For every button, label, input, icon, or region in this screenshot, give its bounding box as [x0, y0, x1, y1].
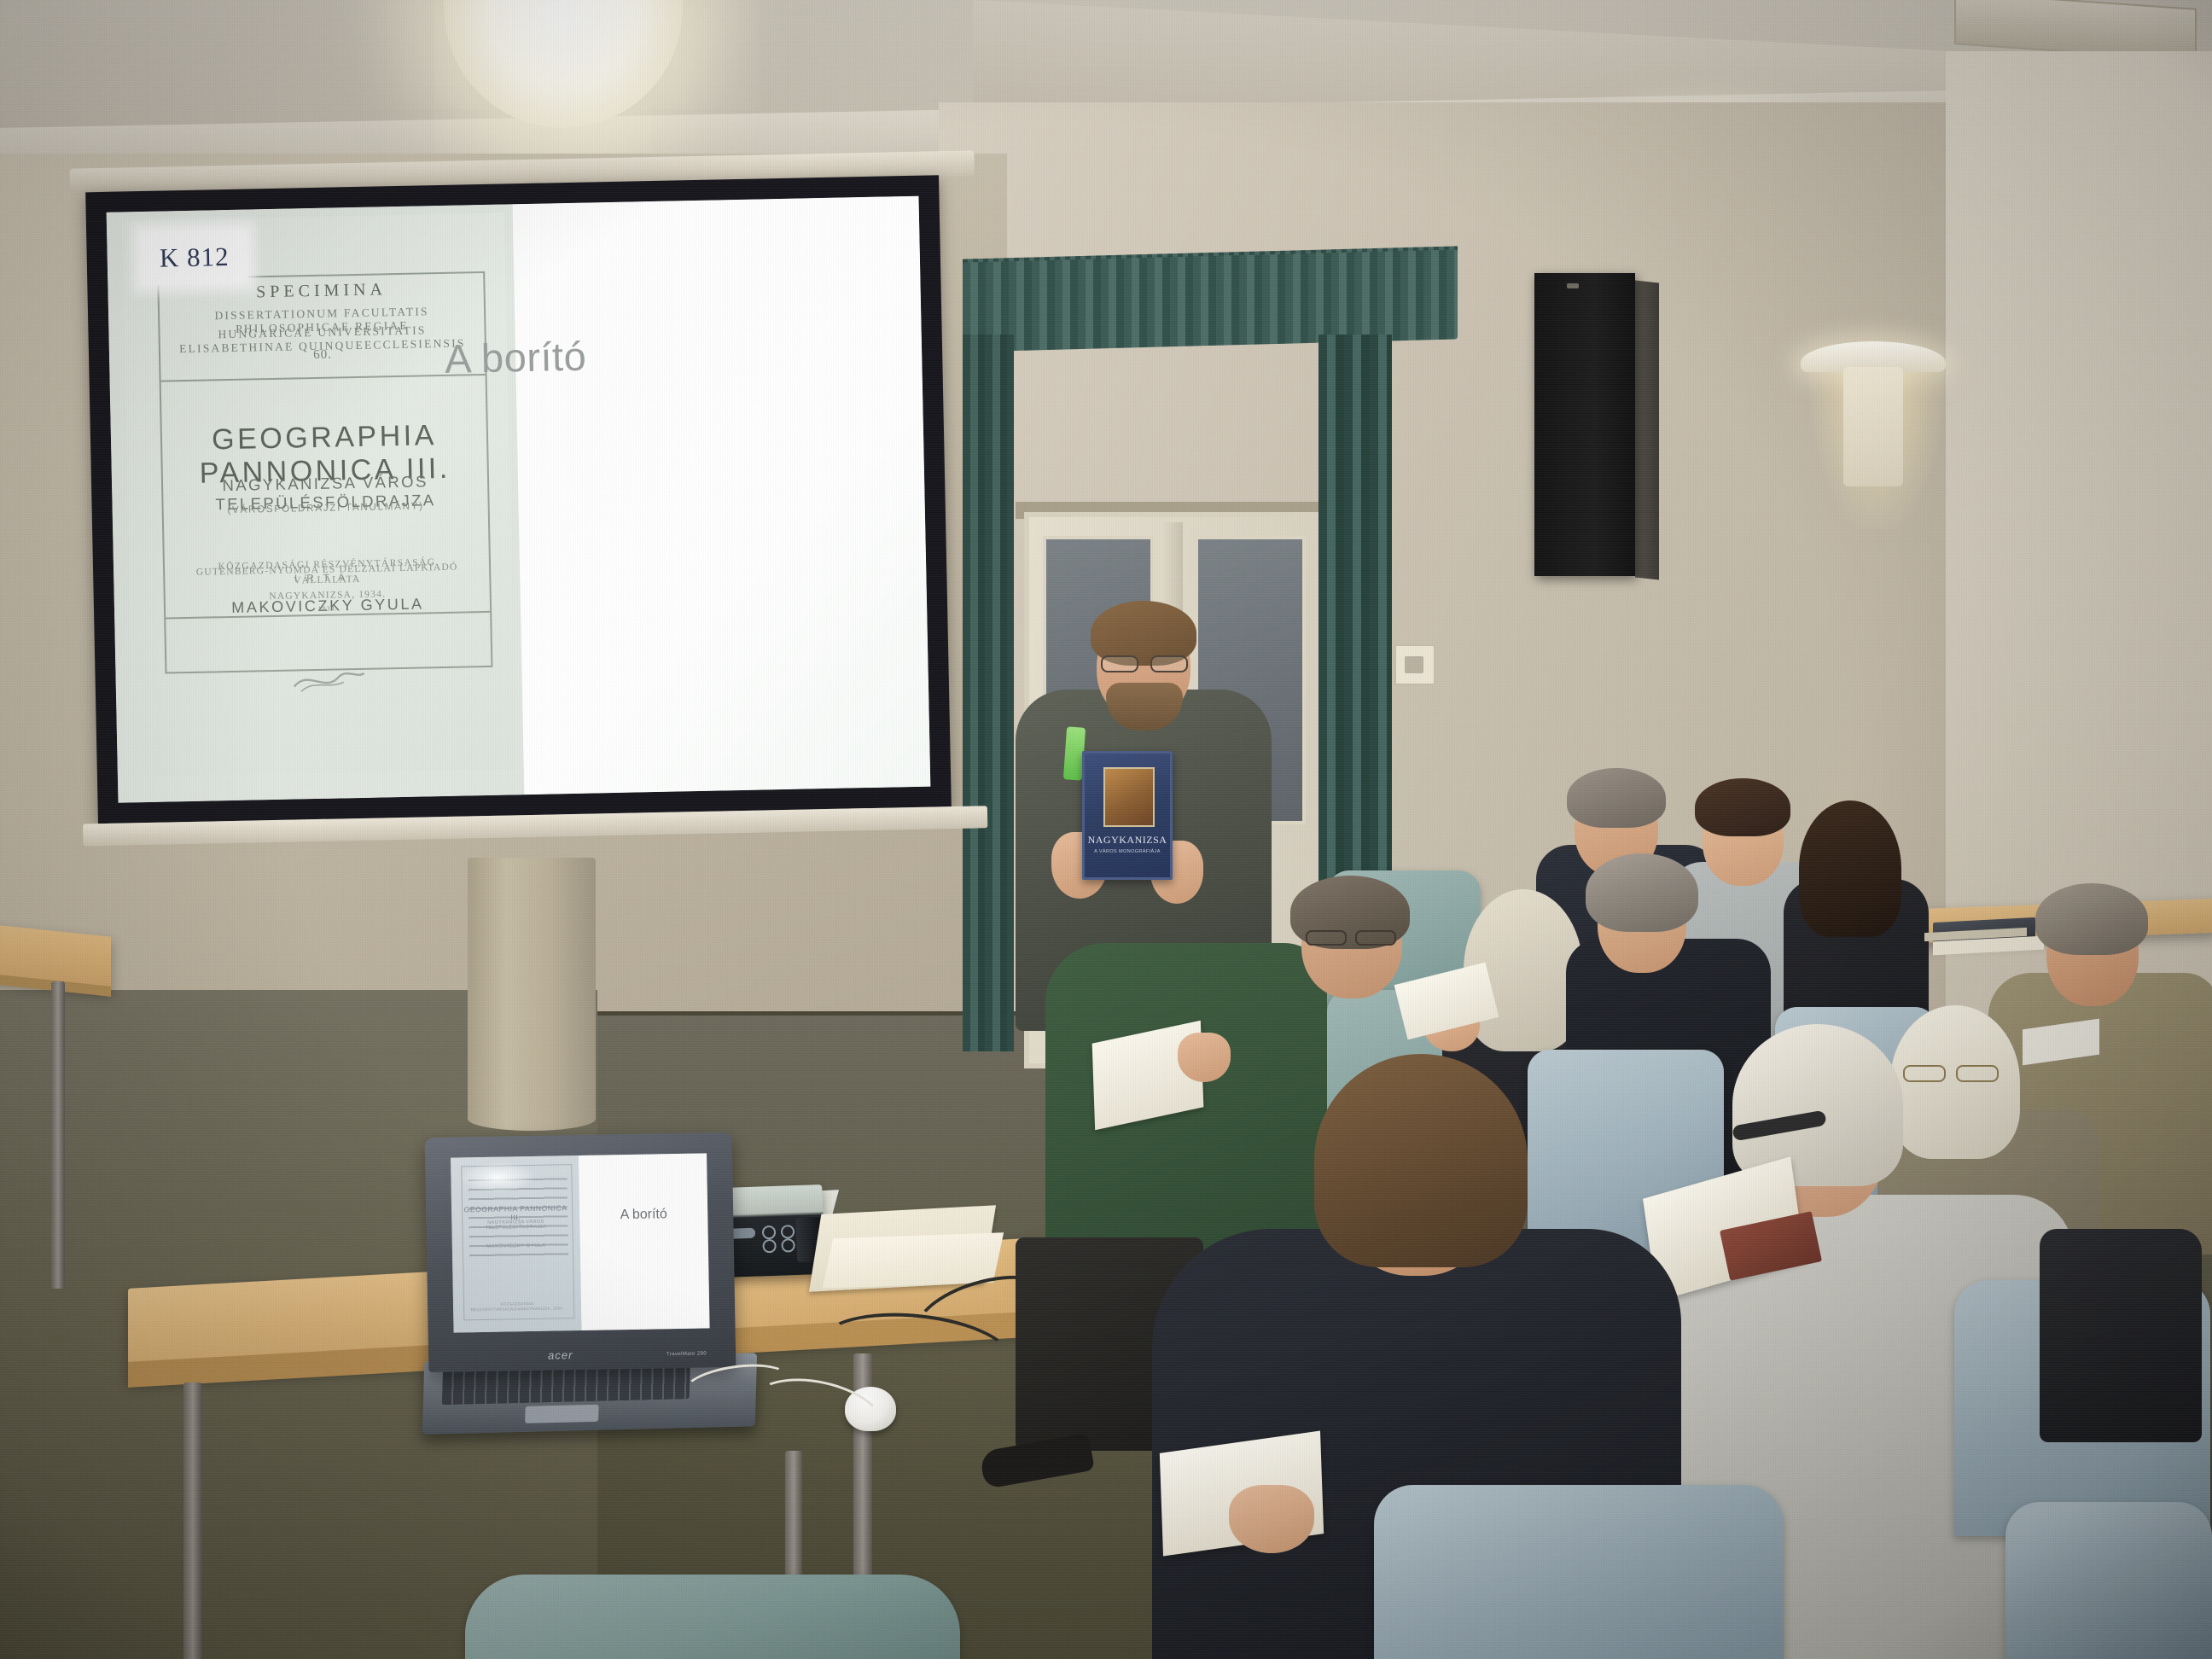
audience-hair [2035, 883, 2148, 955]
printer-ornament-icon [290, 667, 368, 697]
projection-screen: SPECIMINA DISSERTATIONUM FACULTATIS PHIL… [85, 175, 969, 866]
side-table-leg [51, 981, 65, 1289]
chair[interactable] [2005, 1502, 2212, 1659]
rca-port-1-icon [762, 1225, 777, 1240]
rca-port-3-icon [762, 1239, 777, 1254]
conference-room-photo: SPECIMINA DISSERTATIONUM FACULTATIS PHIL… [0, 0, 2212, 1659]
held-book-title: NAGYKANIZSA [1085, 834, 1170, 847]
audience-hand [1229, 1485, 1314, 1553]
laptop-slide-footer: KÖZGAZDASÁGI RÉSZVÉNYTÁRSASÁG\nNAGYKANIZ… [462, 1301, 573, 1314]
projector-ports [728, 1223, 797, 1251]
audience-glasses-icon [1903, 1065, 1999, 1079]
wall-outlet-icon[interactable] [1394, 644, 1435, 685]
chair[interactable] [465, 1575, 960, 1659]
audience-hair [1567, 768, 1666, 828]
slide-right-half [513, 196, 931, 795]
slide-left-half: SPECIMINA DISSERTATIONUM FACULTATIS PHIL… [107, 204, 525, 802]
laptop-brand-logo: acer [548, 1348, 573, 1362]
held-book-cover-image [1103, 767, 1155, 827]
audience-hair [1799, 800, 1901, 937]
coat-on-chair[interactable] [2040, 1229, 2202, 1442]
laptop-touchpad[interactable] [525, 1405, 599, 1423]
video-projector[interactable] [719, 1185, 825, 1278]
audience-hair [1695, 778, 1790, 836]
wall-far-right [1946, 51, 2212, 1024]
support-column [468, 858, 596, 1131]
speaker-led [1567, 283, 1579, 288]
presenter-table-leg-left [183, 1382, 202, 1659]
audience-hand [1178, 1033, 1231, 1082]
audience-hair [1586, 853, 1698, 932]
laptop-screen-glare [459, 1161, 537, 1194]
held-book-subtitle: A VÁROS MONOGRÁFIÁJA [1085, 849, 1170, 854]
audience-hair [1732, 1024, 1903, 1186]
chair[interactable] [1374, 1485, 1784, 1659]
laptop-slide-heading: A borító [579, 1206, 707, 1224]
held-book[interactable]: NAGYKANIZSA A VÁROS MONOGRÁFIÁJA [1082, 751, 1173, 880]
audience-hair [1890, 1005, 2020, 1159]
handout-papers-stack[interactable] [823, 1232, 1004, 1288]
laptop-screen: GEOGRAPHIA PANNONICA III. NAGYKANIZSA VÁ… [451, 1153, 710, 1332]
audience-hair [1314, 1054, 1528, 1267]
screen-frame: SPECIMINA DISSERTATIONUM FACULTATIS PHIL… [85, 175, 952, 824]
laptop-slide-right [579, 1153, 710, 1330]
rca-port-2-icon [781, 1225, 795, 1239]
book-cover-scan: SPECIMINA DISSERTATIONUM FACULTATIS PHIL… [122, 212, 515, 777]
wall-sconce-body [1843, 367, 1903, 486]
speaker-side-panel [1635, 281, 1659, 580]
rca-port-4-icon [781, 1238, 795, 1253]
screen-surface: SPECIMINA DISSERTATIONUM FACULTATIS PHIL… [107, 196, 931, 803]
wall-speaker-icon [1534, 273, 1635, 576]
laptop-slide-subtitle: NAGYKANIZSA VÁROS TELEPÜLÉSFÖLDRAJZA [460, 1219, 571, 1231]
shelf-mark-label: K 812 [141, 230, 247, 285]
curtain-panel-left[interactable] [963, 335, 1014, 1051]
scan-border-box: SPECIMINA DISSERTATIONUM FACULTATIS PHIL… [157, 271, 492, 674]
laptop-model-label: TravelMate 290 [667, 1351, 707, 1357]
presenter-glasses-icon [1101, 655, 1188, 669]
laptop[interactable]: GEOGRAPHIA PANNONICA III. NAGYKANIZSA VÁ… [425, 1132, 736, 1372]
audience-glasses-icon [1306, 930, 1396, 942]
